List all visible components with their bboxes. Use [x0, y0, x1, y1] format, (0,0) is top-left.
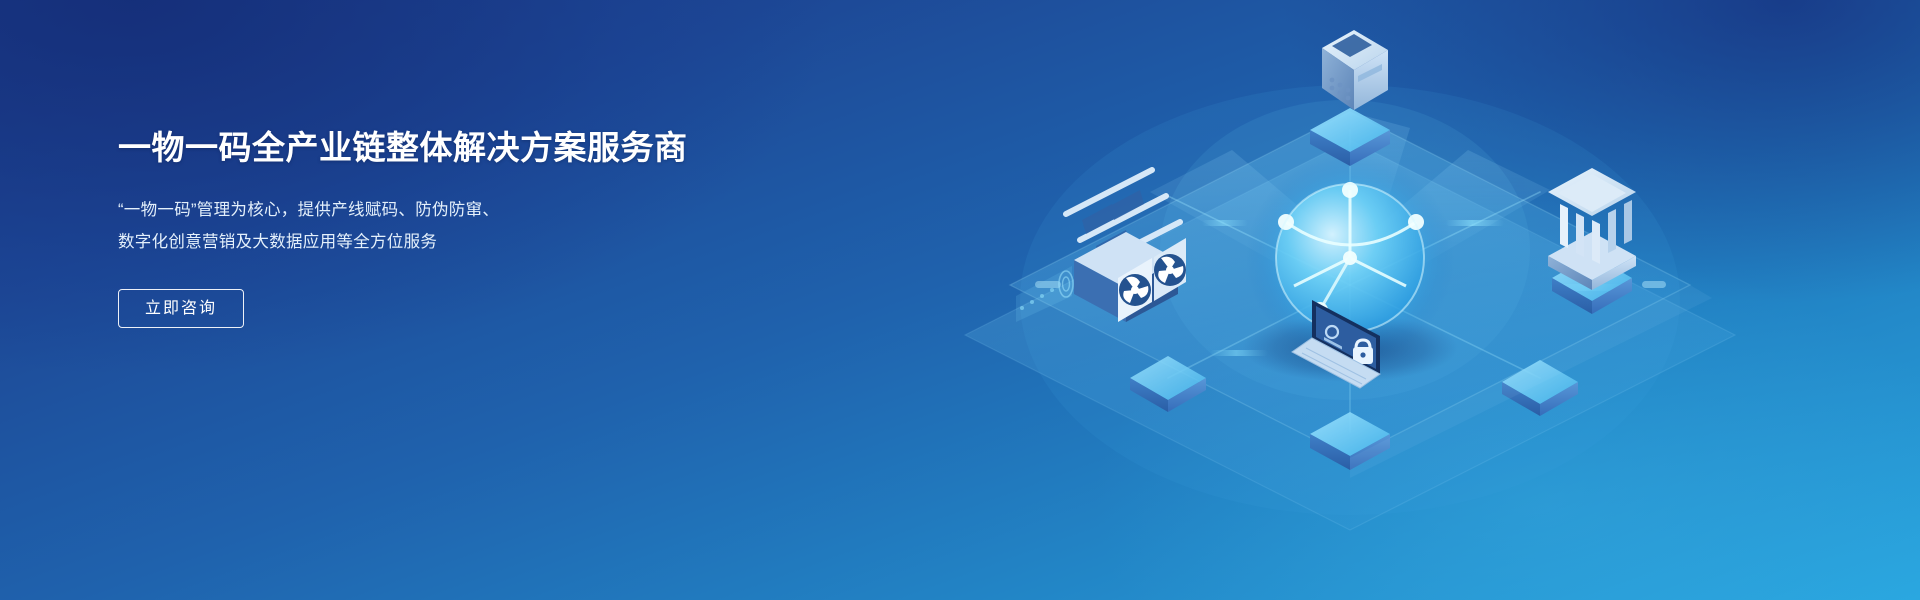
hero-illustration: [850, 0, 1920, 600]
consult-now-button[interactable]: 立即咨询: [118, 289, 244, 328]
hero-subtitle-line-2: 数字化创意营销及大数据应用等全方位服务: [118, 226, 818, 258]
hero-subtitle-line-1: “一物一码”管理为核心，提供产线赋码、防伪防窜、: [118, 194, 818, 226]
hero-subtitle: “一物一码”管理为核心，提供产线赋码、防伪防窜、 数字化创意营销及大数据应用等全…: [118, 194, 818, 258]
hero-banner: 一物一码全产业链整体解决方案服务商 “一物一码”管理为核心，提供产线赋码、防伪防…: [0, 0, 1920, 600]
hero-copy: 一物一码全产业链整体解决方案服务商 “一物一码”管理为核心，提供产线赋码、防伪防…: [118, 128, 818, 328]
page-title: 一物一码全产业链整体解决方案服务商: [118, 128, 818, 168]
illustration-svg: [850, 0, 1920, 600]
